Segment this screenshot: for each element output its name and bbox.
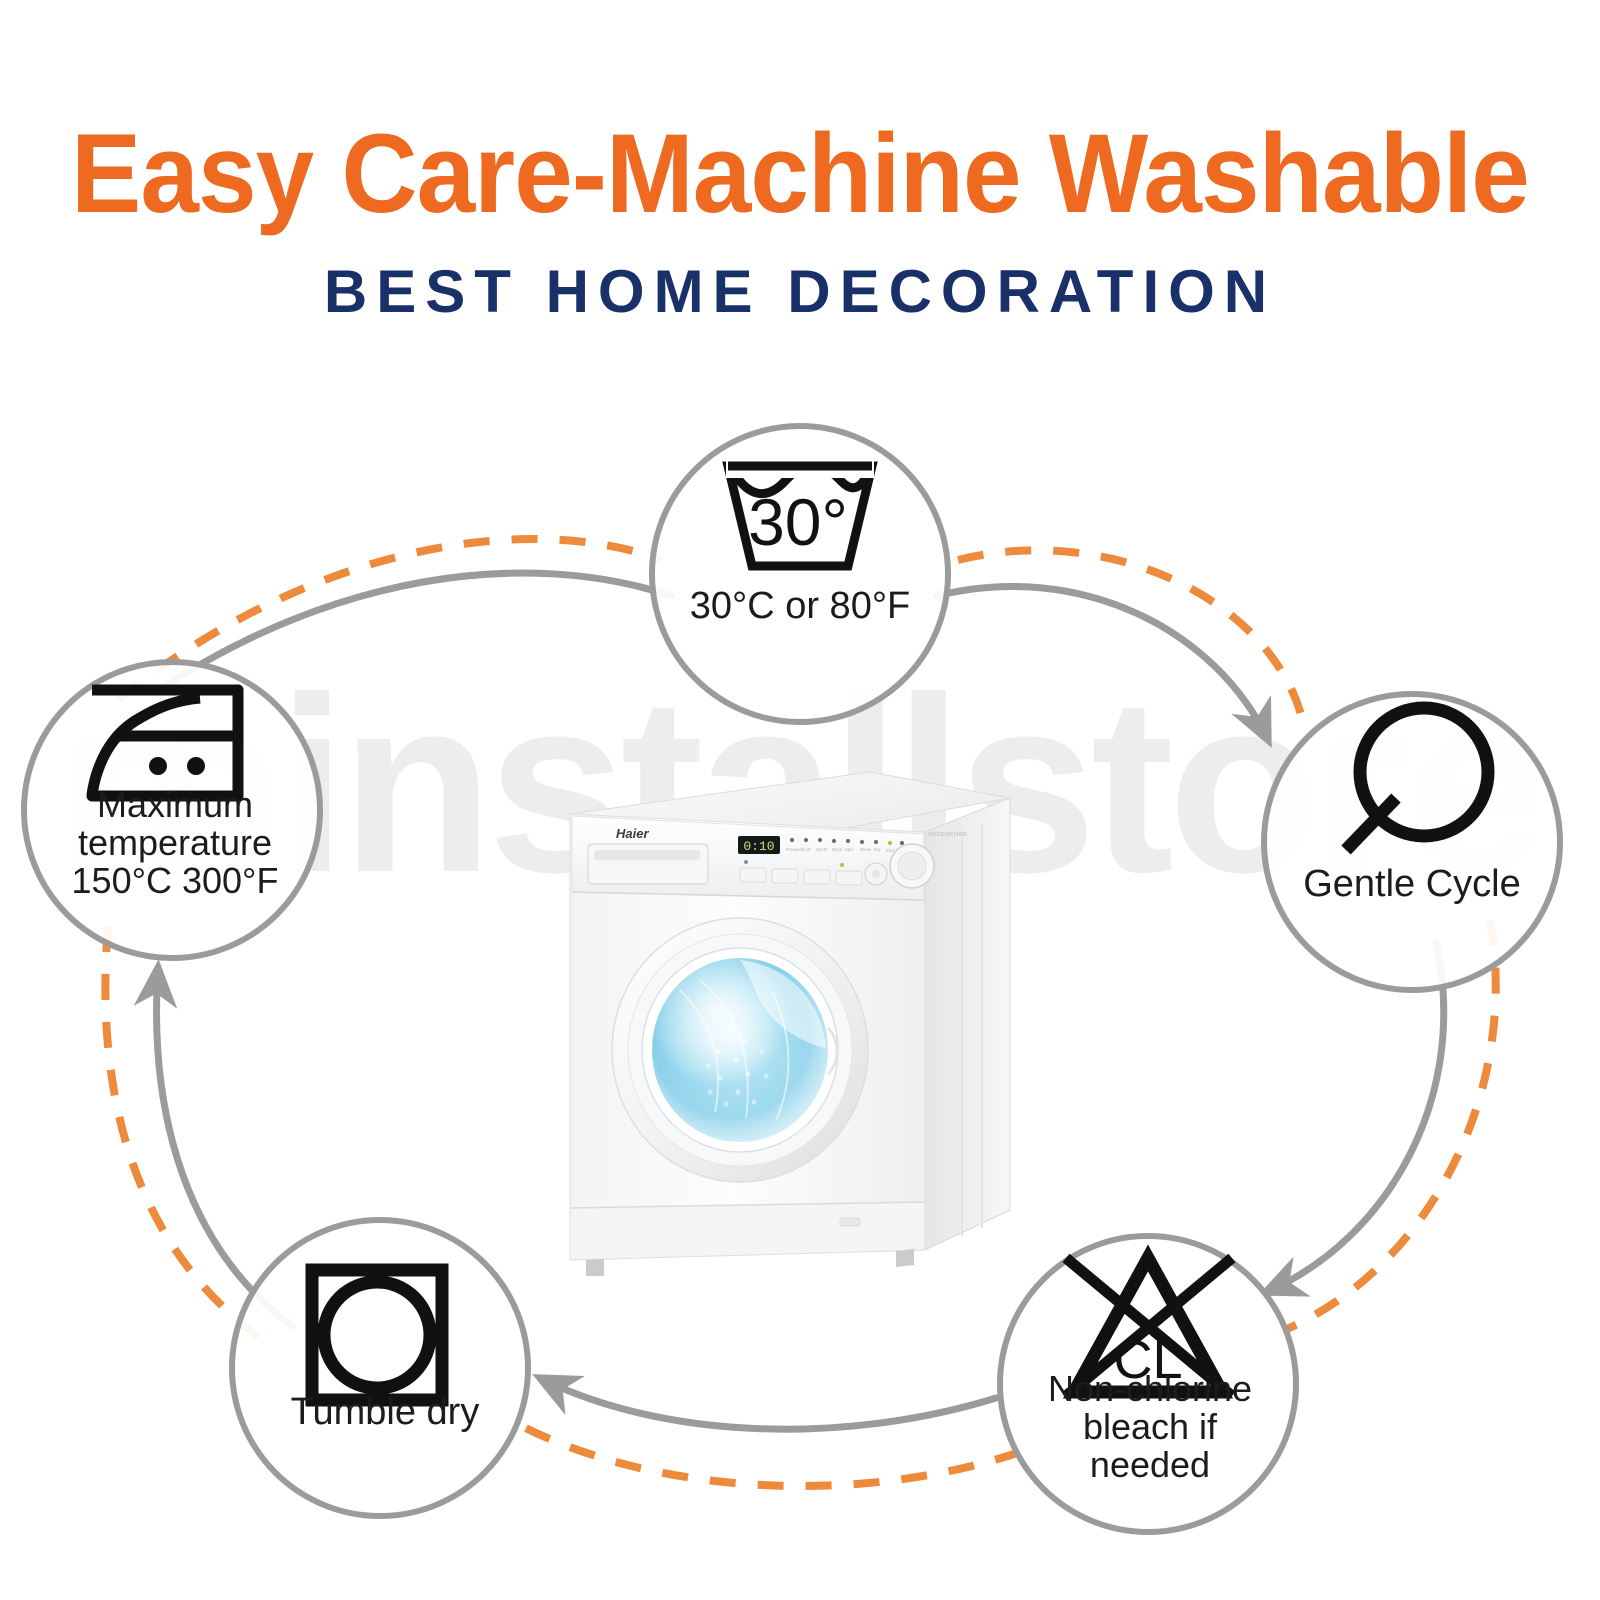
dash-wash-to-gentle — [958, 550, 1302, 718]
arrow-iron-to-wash — [162, 573, 672, 688]
svg-text:30°: 30° — [748, 485, 848, 559]
label-gentle-cycle: Gentle Cycle — [1262, 864, 1562, 904]
arrow-wash-to-gentle — [936, 586, 1268, 740]
label-max-temperature: Maximum temperature 150°C 300°F — [30, 786, 320, 900]
arrow-bleach-to-tumble — [540, 1378, 996, 1429]
label-wash-temperature: 30°C or 80°F — [640, 586, 960, 626]
arrow-gentle-to-bleach — [1266, 942, 1444, 1292]
poster-canvas: Easy Care-Machine Washable BEST HOME DEC… — [0, 0, 1600, 1600]
label-tumble-dry: Tumble dry — [240, 1392, 530, 1432]
node-circle-gentle-cycle — [1264, 694, 1560, 990]
label-non-chlorine-bleach: Non-chlorine bleach if needed — [1005, 1370, 1295, 1484]
